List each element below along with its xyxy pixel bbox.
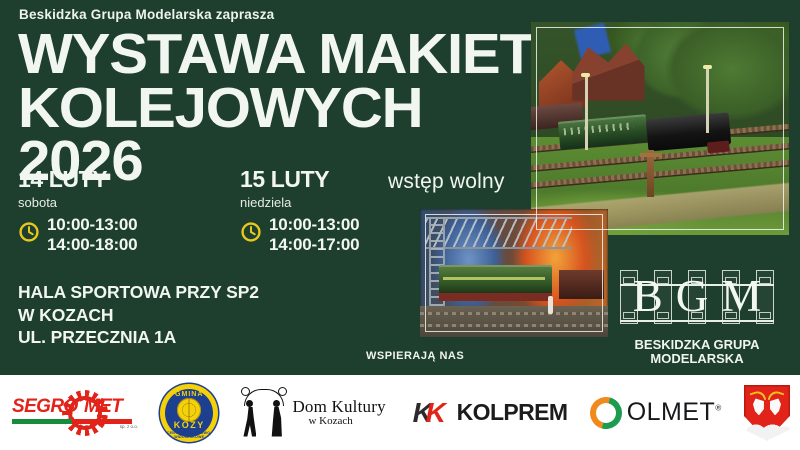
railway-track	[420, 324, 608, 327]
coat-of-arms-icon	[744, 385, 790, 441]
sponsor-olmet[interactable]: OLMET®	[590, 382, 722, 444]
goat-head-right	[769, 393, 783, 415]
catenary-pole	[706, 69, 709, 133]
dancer-head	[246, 400, 253, 407]
page-title: WYSTAWA MAKIET KOLEJOWYCH 2026	[18, 28, 548, 189]
dancer-figure	[270, 407, 283, 437]
hours-line-2: 14:00-17:00	[269, 235, 359, 254]
dom-kultury-line-1: Dom Kultury	[292, 398, 385, 416]
segromet-text-right: MET	[84, 396, 122, 418]
olmet-text: OLMET®	[627, 398, 722, 427]
goat-head-shape	[753, 398, 764, 415]
kolprem-kk-icon: K K	[413, 398, 453, 428]
venue-address: HALA SPORTOWA PRZY SP2 W KOZACH UL. PRZE…	[18, 281, 259, 349]
freight-wagon	[559, 270, 604, 298]
date-weekday: niedziela	[240, 196, 359, 209]
clock-icon	[240, 221, 262, 248]
hours-text: 10:00-13:00 14:00-18:00	[47, 215, 137, 254]
registered-mark: ®	[715, 404, 721, 413]
sponsor-bar: SEGRO MET sp. z o.o. GMINA KOZY CENTRUM …	[0, 375, 800, 450]
hills-shape	[744, 416, 790, 441]
goat-head-shape	[770, 398, 781, 415]
date-column-sunday: 15 LUTY niedziela 10:00-13:00 14:00-17:0…	[240, 168, 359, 254]
dom-kultury-line-2: w Kozach	[308, 416, 385, 428]
sponsor-gmina-kozy[interactable]: GMINA KOZY CENTRUM SPORTOWO-WIDOWISKOWE	[160, 382, 218, 444]
olmet-wordmark: OLMET	[627, 398, 716, 426]
water-crane	[647, 150, 654, 197]
hours-row: 10:00-13:00 14:00-17:00	[240, 215, 359, 254]
sponsor-dom-kultury[interactable]: Dom Kultury w Kozach	[240, 382, 390, 444]
venue-line-2: W KOZACH	[18, 304, 259, 327]
dancer-figure	[243, 407, 256, 437]
black-steam-locomotive	[646, 112, 731, 151]
segromet-underline	[12, 419, 132, 424]
photo-shunting-locomotive	[420, 209, 608, 337]
date-column-saturday: 14 LUTY sobota 10:00-13:00 14:00-18:00	[18, 168, 137, 254]
venue-line-3: UL. PRZECZNIA 1A	[18, 326, 259, 349]
hours-line-1: 10:00-13:00	[269, 215, 359, 234]
date-number: 15 LUTY	[240, 168, 359, 191]
hours-line-1: 10:00-13:00	[47, 215, 137, 234]
segromet-text-left: SEGRO	[12, 396, 78, 418]
photo-scene	[531, 22, 789, 235]
bgm-logo: BGM BESKIDZKA GRUPA MODELARSKA	[606, 258, 788, 358]
ballast-layer	[420, 306, 608, 337]
green-shunting-locomotive	[439, 265, 552, 298]
hours-text: 10:00-13:00 14:00-17:00	[269, 215, 359, 254]
bgm-subtitle: BESKIDZKA GRUPA MODELARSKA	[602, 338, 791, 366]
venue-line-1: HALA SPORTOWA PRZY SP2	[18, 281, 259, 304]
kolprem-k-red: K	[426, 398, 444, 428]
photo-scene	[420, 209, 608, 337]
tagline: Beskidzka Grupa Modelarska zaprasza	[19, 7, 274, 22]
lamp-icon	[703, 65, 712, 69]
hours-row: 10:00-13:00 14:00-18:00	[18, 215, 137, 254]
hours-line-2: 14:00-18:00	[47, 235, 137, 254]
figure-model	[548, 296, 553, 314]
poster-root: Beskidzka Grupa Modelarska zaprasza WYST…	[0, 0, 800, 450]
catenary-pole	[585, 77, 588, 149]
sponsor-kolprem[interactable]: K K KOLPREM	[413, 382, 568, 444]
dancers-icon	[240, 389, 286, 437]
lamp-icon	[581, 73, 590, 77]
date-weekday: sobota	[18, 196, 137, 209]
date-number: 14 LUTY	[18, 168, 137, 191]
free-entry-label: wstęp wolny	[388, 170, 505, 194]
kozy-arc-text: CENTRUM SPORTOWO-WIDOWISKOWE	[164, 431, 214, 439]
overhead-gantry	[426, 217, 573, 249]
photo-model-railway-diorama	[531, 22, 789, 235]
railway-track	[420, 312, 608, 315]
kolprem-text: KOLPREM	[457, 399, 568, 426]
sponsor-segromet[interactable]: SEGRO MET sp. z o.o.	[10, 382, 138, 444]
olmet-swoosh-icon	[590, 397, 622, 429]
clock-icon	[18, 221, 40, 248]
sponsor-herb-kozy[interactable]	[744, 382, 790, 444]
goat-head-left	[751, 393, 765, 415]
bgm-letters: BGM	[606, 274, 788, 319]
segromet-small-text: sp. z o.o.	[120, 424, 138, 429]
support-label: WSPIERAJĄ NAS	[366, 350, 464, 362]
kozy-bottom-text: KOZY	[160, 420, 218, 430]
kozy-top-text: GMINA	[160, 391, 218, 398]
dancer-head	[273, 400, 280, 407]
